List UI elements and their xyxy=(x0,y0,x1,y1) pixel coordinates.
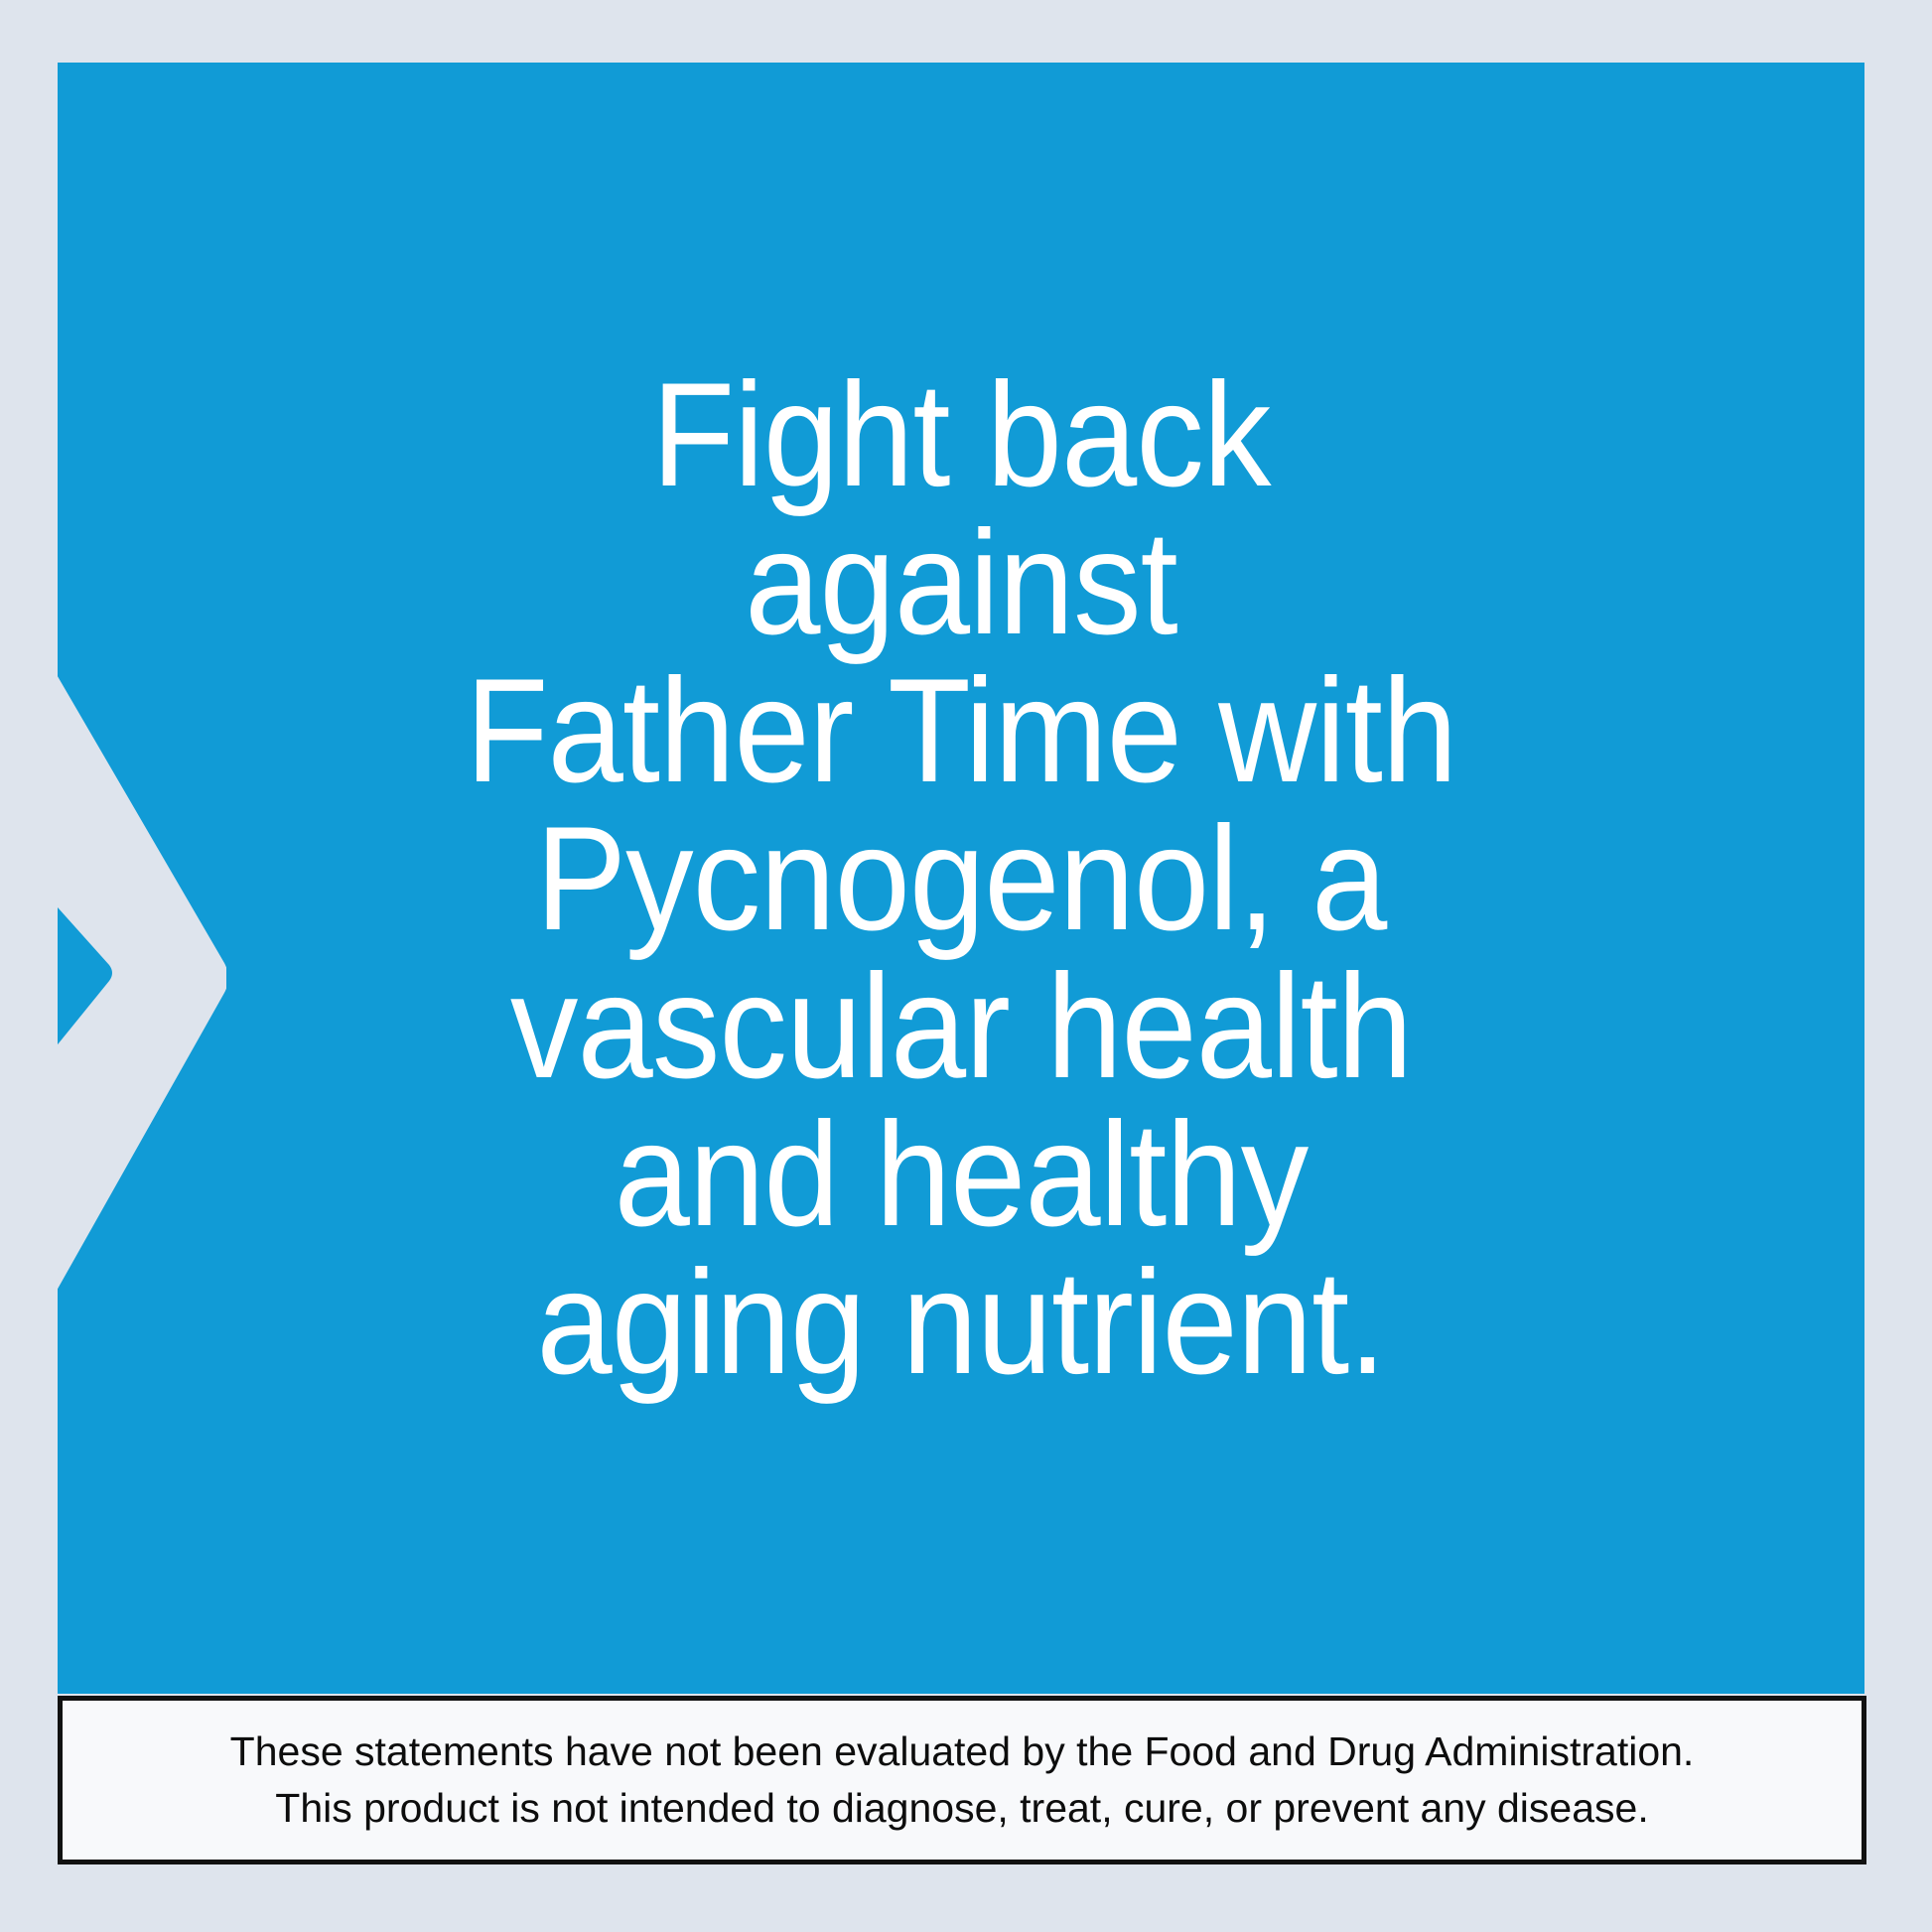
disclaimer-line-2: This product is not intended to diagnose… xyxy=(275,1780,1648,1837)
page-title: Fight back against Father Time with Pycn… xyxy=(450,360,1472,1396)
fda-disclaimer-box: These statements have not been evaluated… xyxy=(58,1696,1866,1864)
headline-container: Fight back against Father Time with Pycn… xyxy=(58,63,1864,1694)
poster-canvas: Fight back against Father Time with Pycn… xyxy=(0,0,1932,1932)
disclaimer-line-1: These statements have not been evaluated… xyxy=(230,1724,1695,1780)
